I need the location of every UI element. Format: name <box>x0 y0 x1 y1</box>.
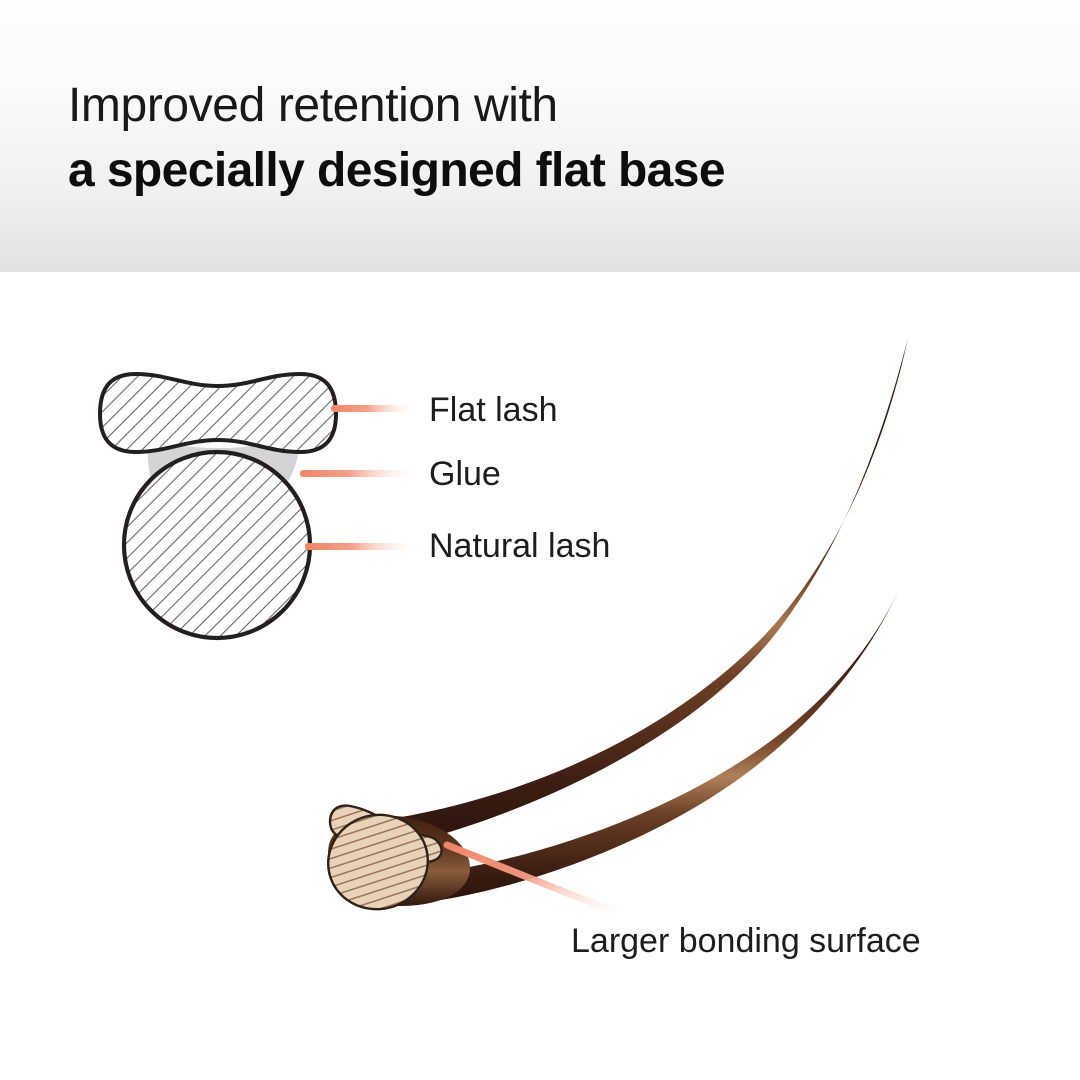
label-glue: Glue <box>429 455 501 494</box>
leader-line-glue-icon <box>300 470 415 477</box>
leader-line-flat-lash-icon <box>331 405 415 412</box>
label-larger-bonding-surface: Larger bonding surface <box>571 922 921 961</box>
label-flat-lash: Flat lash <box>429 391 558 430</box>
cross-section-flat-lash <box>92 366 344 462</box>
label-natural-lash: Natural lash <box>429 527 610 566</box>
leader-line-natural-lash-icon <box>305 543 415 550</box>
poster-canvas: Improved retention with a specially desi… <box>0 0 1080 1080</box>
lash-strands-3d <box>328 338 908 906</box>
